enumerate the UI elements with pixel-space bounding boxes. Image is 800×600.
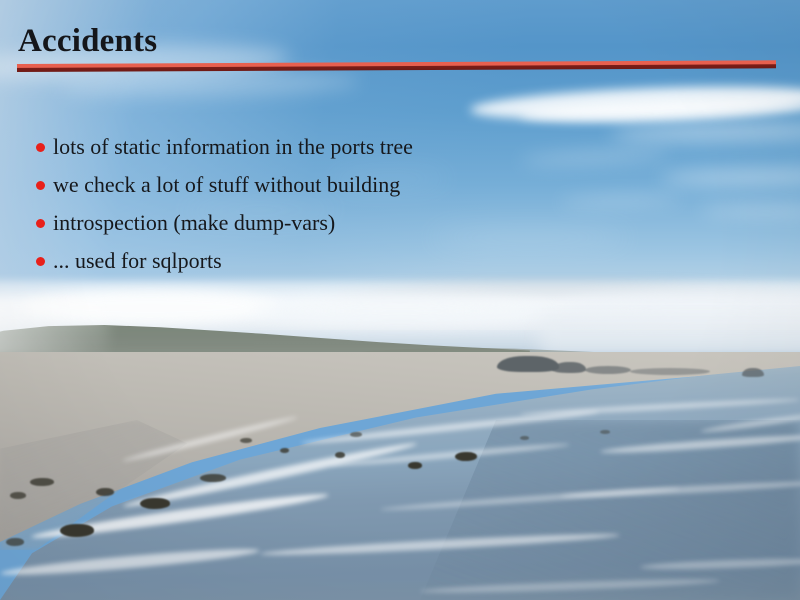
bullet-dot-icon	[36, 181, 45, 190]
slide-title: Accidents	[18, 22, 157, 60]
bullet-text: ... used for sqlports	[53, 248, 222, 274]
list-item: introspection (make dump-vars)	[36, 204, 766, 242]
bullet-text: introspection (make dump-vars)	[53, 210, 335, 236]
bullet-dot-icon	[36, 257, 45, 266]
bullet-dot-icon	[36, 143, 45, 152]
list-item: we check a lot of stuff without building	[36, 166, 766, 204]
bullet-text: lots of static information in the ports …	[53, 134, 413, 160]
bullet-text: we check a lot of stuff without building	[53, 172, 400, 198]
slide-content: Accidents lots of static information in …	[0, 0, 800, 600]
list-item: lots of static information in the ports …	[36, 128, 766, 166]
bullet-list: lots of static information in the ports …	[36, 128, 766, 280]
title-underline-rule	[17, 60, 776, 72]
bullet-dot-icon	[36, 219, 45, 228]
presentation-slide: Accidents lots of static information in …	[0, 0, 800, 600]
list-item: ... used for sqlports	[36, 242, 766, 280]
